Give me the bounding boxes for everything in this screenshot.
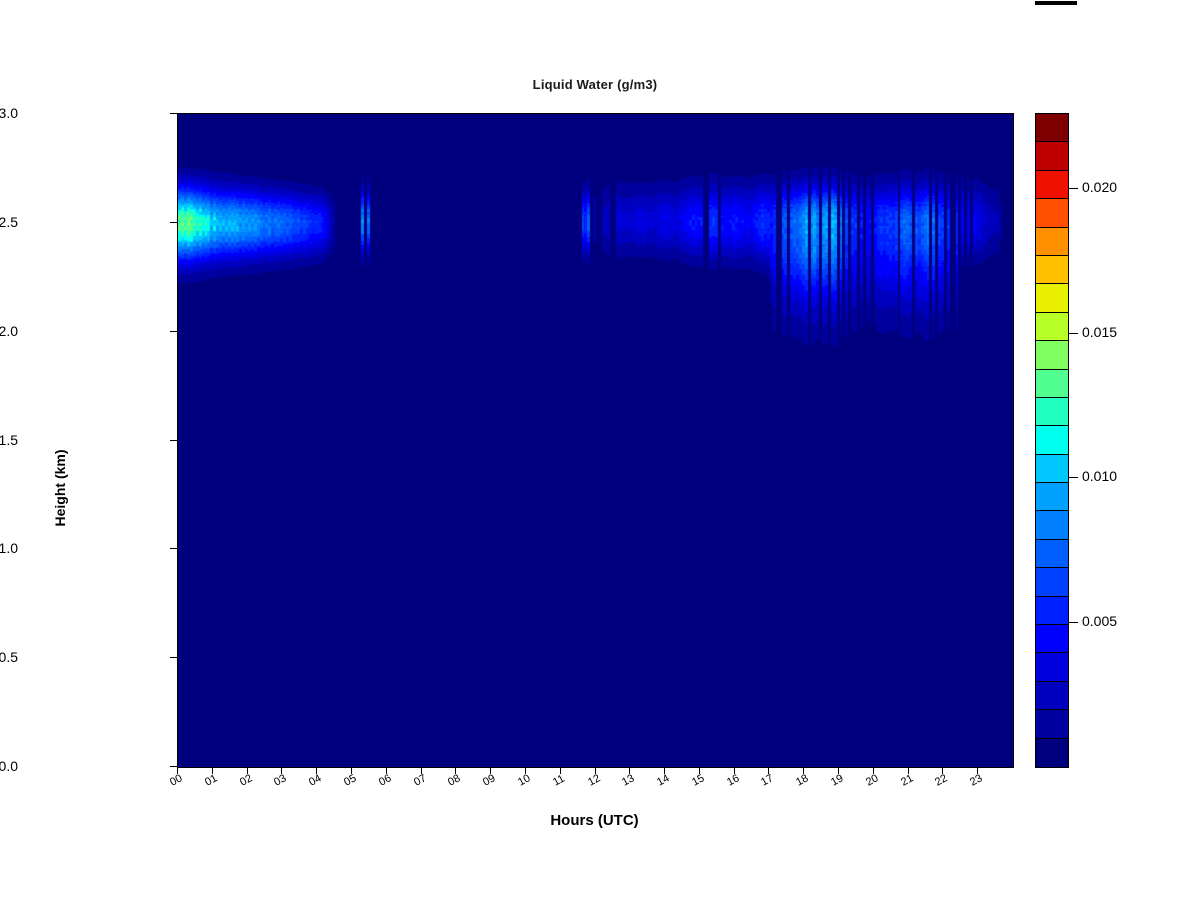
colorbar-tick-label: 0.005 — [1082, 613, 1117, 629]
colorbar-segment — [1036, 171, 1068, 199]
colorbar-segment — [1036, 341, 1068, 369]
y-tick-label: 2.0 — [0, 323, 18, 339]
colorbar-segment — [1036, 483, 1068, 511]
y-tick-mark — [170, 657, 177, 658]
colorbar-segment — [1036, 597, 1068, 625]
colorbar-segment — [1036, 313, 1068, 341]
colorbar-tick-label: 0.010 — [1082, 468, 1117, 484]
colorbar-segment — [1036, 398, 1068, 426]
y-tick-mark — [170, 113, 177, 114]
x-tick-label: 19 — [829, 772, 845, 788]
x-tick-label: 02 — [238, 772, 254, 788]
colorbar-tick-label: 0.020 — [1082, 179, 1117, 195]
y-tick-mark — [170, 766, 177, 767]
colorbar-tick-mark — [1069, 333, 1078, 334]
colorbar-segment — [1036, 653, 1068, 681]
colorbar-segment — [1036, 426, 1068, 454]
x-tick-label: 01 — [203, 772, 219, 788]
colorbar-segment — [1036, 682, 1068, 710]
y-tick-mark — [170, 331, 177, 332]
y-tick-label: 3.0 — [0, 105, 18, 121]
colorbar-segment — [1036, 228, 1068, 256]
y-tick-label: 2.5 — [0, 214, 18, 230]
colorbar-tick-mark — [1069, 477, 1078, 478]
colorbar-segment — [1036, 284, 1068, 312]
x-tick-label: 09 — [481, 772, 497, 788]
colorbar-segment — [1036, 568, 1068, 596]
colorbar-segment — [1036, 256, 1068, 284]
colorbar-segment — [1036, 114, 1068, 142]
y-tick-label: 1.5 — [0, 432, 18, 448]
x-tick-label: 23 — [968, 772, 984, 788]
x-tick-label: 05 — [342, 772, 358, 788]
x-tick-label: 07 — [412, 772, 428, 788]
y-tick-label: 0.5 — [0, 649, 18, 665]
liquid-water-time-height-figure: Liquid Water (g/m3) Height (km) Hours (U… — [0, 0, 1200, 900]
x-tick-label: 18 — [794, 772, 810, 788]
x-tick-label: 06 — [377, 772, 393, 788]
x-tick-label: 11 — [551, 773, 567, 789]
colorbar-segment — [1036, 142, 1068, 170]
x-axis-label: Hours (UTC) — [177, 812, 1012, 829]
x-tick-label: 04 — [307, 772, 323, 788]
colorbar-segment — [1036, 739, 1068, 767]
colorbar-segment — [1036, 199, 1068, 227]
x-tick-label: 16 — [725, 772, 741, 788]
y-tick-mark — [170, 440, 177, 441]
colorbar-tick-mark — [1069, 622, 1078, 623]
x-tick-label: 21 — [899, 772, 915, 788]
heatmap-canvas — [178, 114, 1013, 767]
colorbar-segment — [1036, 455, 1068, 483]
page-title: Liquid Water (g/m3) — [0, 77, 1190, 92]
x-tick-label: 20 — [864, 772, 880, 788]
x-tick-label: 22 — [933, 772, 949, 788]
y-tick-mark — [170, 548, 177, 549]
x-tick-label: 12 — [586, 772, 602, 788]
y-tick-label: 1.0 — [0, 540, 18, 556]
colorbar-tick-label: 0.015 — [1082, 324, 1117, 340]
y-axis-label: Height (km) — [52, 408, 68, 568]
y-tick-label: 0.0 — [0, 758, 18, 774]
x-tick-label: 00 — [168, 772, 184, 788]
x-tick-label: 08 — [446, 772, 462, 788]
colorbar-segment — [1036, 370, 1068, 398]
colorbar-tick-mark — [1069, 188, 1078, 189]
colorbar-segment — [1036, 540, 1068, 568]
colorbar-segment — [1036, 625, 1068, 653]
colorbar-segment — [1036, 511, 1068, 539]
x-tick-label: 17 — [759, 772, 775, 788]
x-tick-label: 03 — [272, 772, 288, 788]
y-tick-mark — [170, 222, 177, 223]
heatmap-plot-area — [177, 113, 1014, 768]
x-tick-label: 10 — [516, 772, 532, 788]
x-tick-label: 14 — [655, 772, 671, 788]
colorbar-segment — [1036, 710, 1068, 738]
colorbar — [1035, 113, 1069, 768]
corner-artifact-bar — [1035, 1, 1077, 5]
x-tick-label: 15 — [690, 772, 706, 788]
x-tick-label: 13 — [620, 772, 636, 788]
